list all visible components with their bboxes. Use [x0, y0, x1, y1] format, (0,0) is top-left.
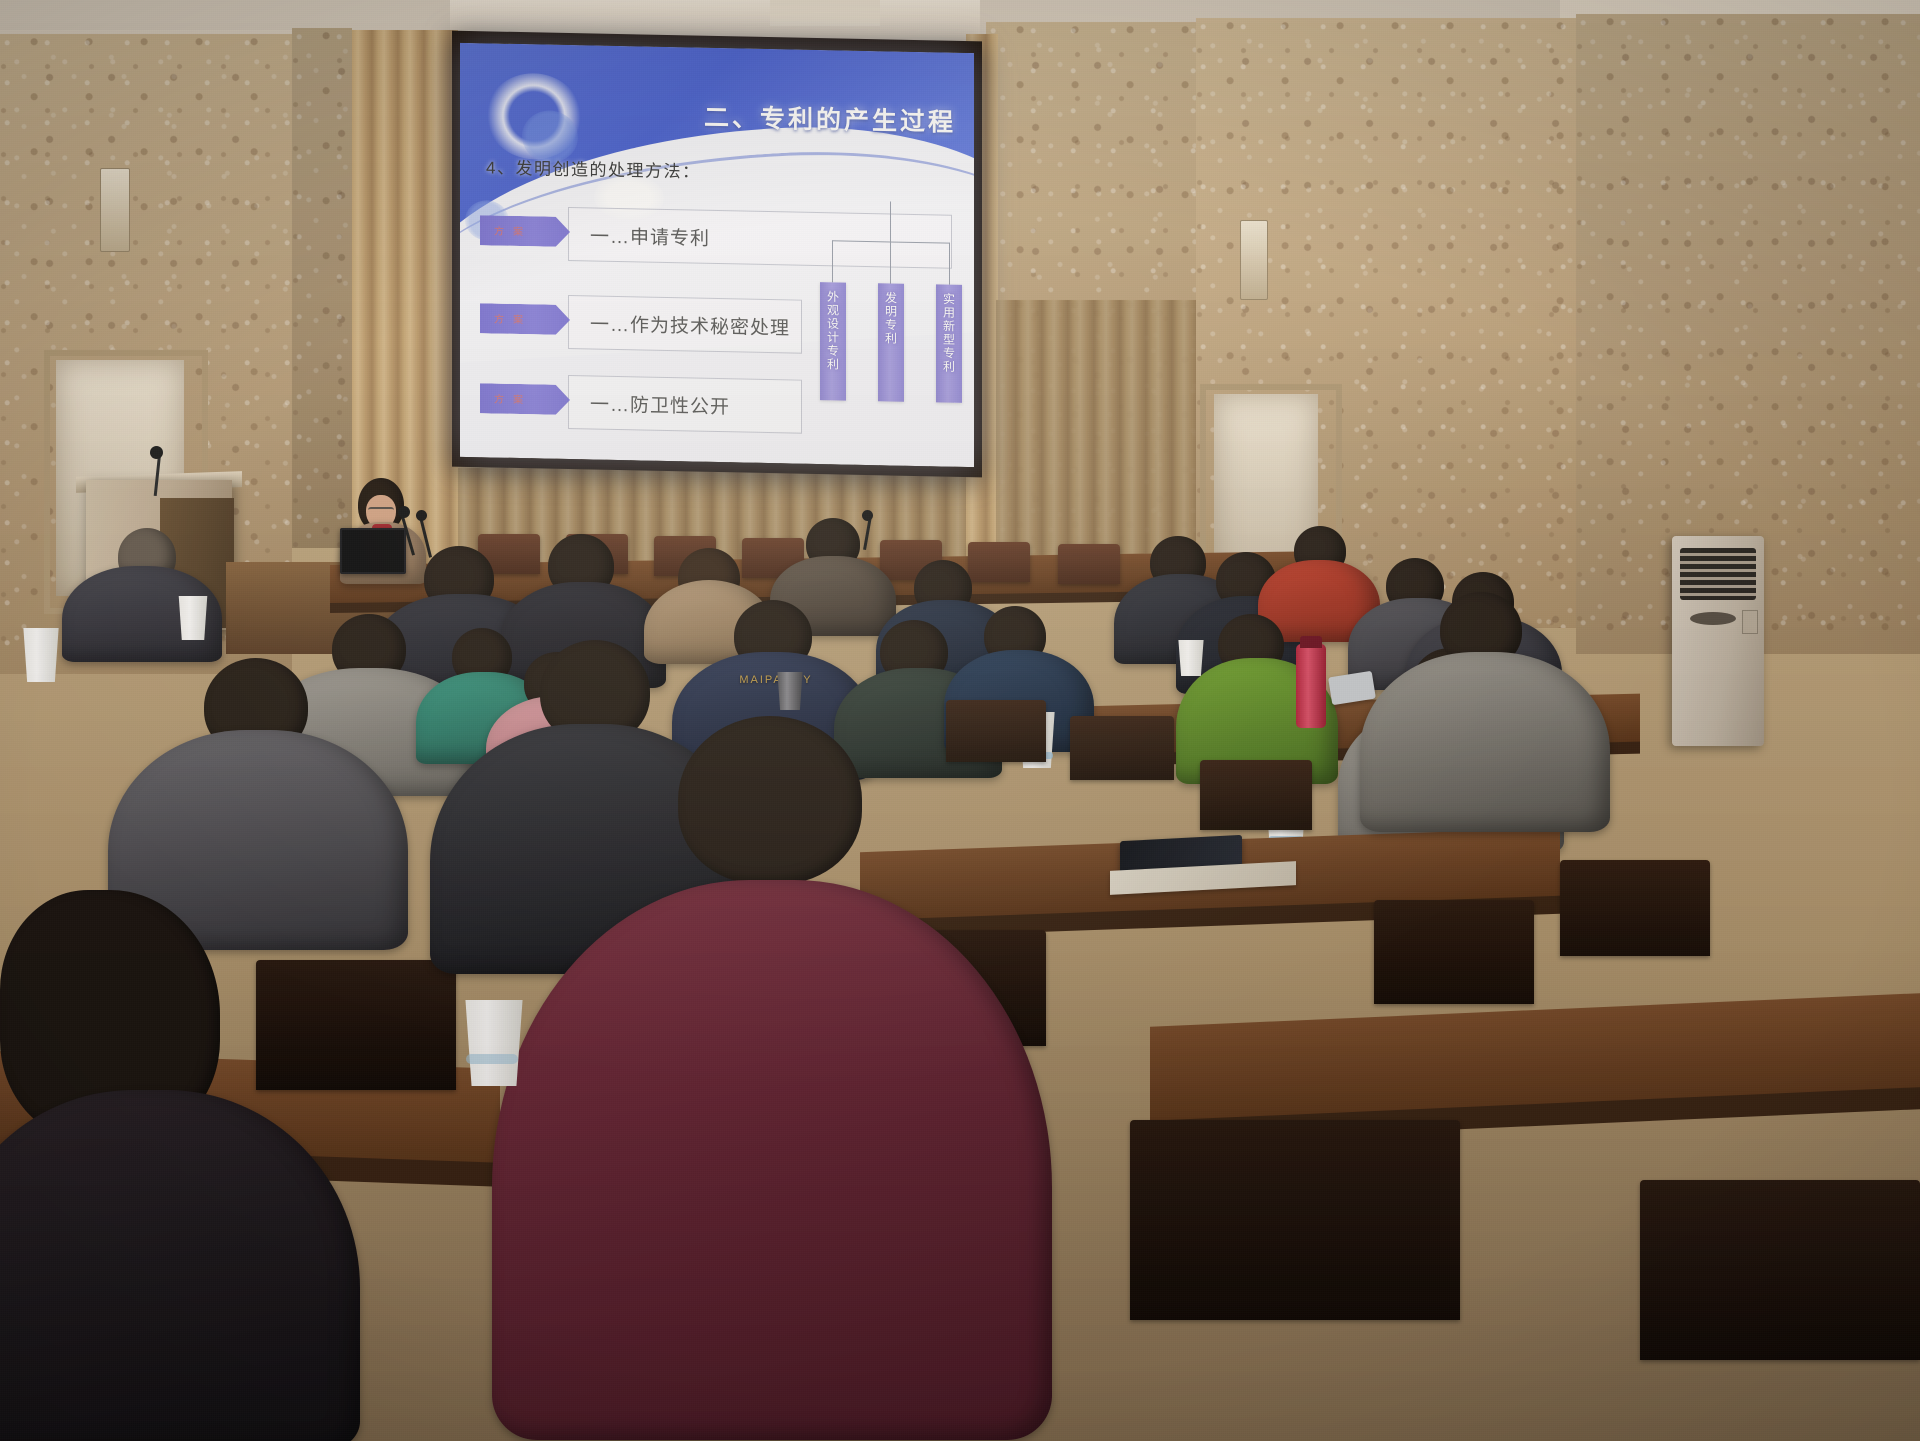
tree-bar-2: 发明专利 — [878, 283, 904, 402]
tree-bar-1: 外观设计专利 — [820, 282, 846, 401]
chair-front-7[interactable] — [1058, 544, 1120, 584]
option-tag-3: 方案 — [480, 383, 570, 415]
air-conditioner-unit — [1672, 536, 1764, 746]
slide-title: 二、专利的产生过程 — [704, 98, 956, 139]
option-tag-label-3: 方案 — [494, 391, 532, 407]
chair-right-large-2[interactable] — [1374, 900, 1534, 1004]
tree-bar-label-1: 外观设计专利 — [825, 290, 842, 371]
tree-bar-3: 实用新型专利 — [936, 284, 962, 403]
wall-lamp-right — [1240, 220, 1268, 300]
chair-mid-2[interactable] — [1070, 716, 1174, 780]
stone-pillar-left — [292, 28, 352, 548]
attendee-head-22 — [678, 716, 862, 884]
chair-foreground-left[interactable] — [256, 960, 456, 1090]
attendee-body-22-maroon-sweater — [492, 880, 1052, 1440]
chair-mid-1[interactable] — [946, 700, 1046, 762]
tree-bar-label-3: 实用新型专利 — [941, 292, 958, 373]
projection-screen: 二、专利的产生过程 4、发明创造的处理方法： 方案 一…申请专利 方案 一…作为… — [460, 43, 974, 467]
attendee-body-24 — [1360, 652, 1610, 832]
tree-crossbar-line — [832, 240, 950, 243]
jacket-brand-text: MAIPADOY — [732, 674, 820, 688]
patent-type-tree-diagram: 外观设计专利 发明专利 实用新型专利 — [816, 200, 966, 403]
presenter-glasses-icon — [368, 507, 394, 515]
slide-subtitle: 4、发明创造的处理方法： — [486, 153, 700, 182]
option-tag-label-2: 方案 — [494, 311, 532, 327]
ac-vent-grille — [1680, 548, 1756, 600]
option-tag-2: 方案 — [480, 303, 570, 335]
tree-branch-line-1 — [832, 240, 833, 282]
chair-foreground-right-big[interactable] — [1130, 1120, 1460, 1320]
water-bottle[interactable] — [1296, 644, 1326, 728]
ceiling-light-panel — [770, 0, 880, 26]
presenter-mic-head-1-icon — [398, 506, 410, 518]
tree-bar-label-2: 发明专利 — [883, 291, 900, 345]
option-tag-1: 方案 — [480, 215, 570, 247]
chair-mid-3[interactable] — [1200, 760, 1312, 830]
ceiling-beam-left — [0, 0, 450, 30]
tree-branch-line-3 — [949, 243, 950, 285]
presenter-laptop[interactable] — [340, 528, 406, 574]
tree-trunk-line — [890, 201, 891, 241]
tree-branch-line-2 — [890, 241, 891, 283]
wall-lamp-left — [100, 168, 130, 252]
side-mic-head-icon — [862, 510, 873, 521]
presenter-mic-head-2-icon — [416, 510, 427, 521]
water-bottle-cap[interactable] — [1300, 636, 1322, 648]
option-text-1: 一…申请专利 — [590, 221, 710, 250]
option-text-3: 一…防卫性公开 — [590, 389, 730, 419]
paper-cup-foreground-ring — [466, 1054, 518, 1064]
ac-brand-logo — [1690, 612, 1736, 625]
chair-foreground-corner[interactable] — [1640, 1180, 1920, 1360]
ac-control-panel[interactable] — [1742, 610, 1758, 634]
conference-room-photo: 二、专利的产生过程 4、发明创造的处理方法： 方案 一…申请专利 方案 一…作为… — [0, 0, 1920, 1441]
option-tag-label-1: 方案 — [494, 223, 532, 239]
chair-front-6[interactable] — [968, 542, 1030, 582]
chair-right-large[interactable] — [1560, 860, 1710, 956]
option-text-2: 一…作为技术秘密处理 — [590, 309, 790, 340]
podium-mic-head-icon — [150, 446, 163, 459]
